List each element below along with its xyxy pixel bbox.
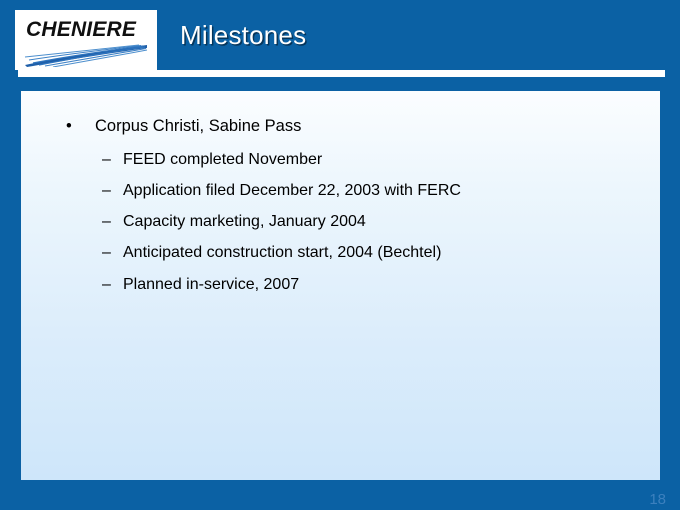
list-item: • Corpus Christi, Sabine Pass xyxy=(21,117,660,137)
list-item: – Planned in-service, 2007 xyxy=(21,275,660,294)
slide-title: Milestones xyxy=(180,20,306,51)
bullet-marker: • xyxy=(66,117,72,137)
list-item-label: Capacity marketing, January 2004 xyxy=(123,213,366,230)
list-item-label: FEED completed November xyxy=(123,151,322,168)
header-separator-left-cap xyxy=(0,70,18,77)
bullet-list: • Corpus Christi, Sabine Pass – FEED com… xyxy=(21,117,660,306)
list-item-label: Anticipated construction start, 2004 (Be… xyxy=(123,244,441,261)
slide-header: CHENIERE Milestones xyxy=(0,0,680,77)
list-item: – Capacity marketing, January 2004 xyxy=(21,212,660,231)
dash-marker: – xyxy=(102,275,111,294)
list-item: – FEED completed November xyxy=(21,150,660,169)
presentation-slide: CHENIERE Milestones • Corpus Christi, Sa… xyxy=(0,0,680,510)
wave-swoosh-icon xyxy=(23,43,149,67)
slide-content-panel: • Corpus Christi, Sabine Pass – FEED com… xyxy=(18,88,663,483)
list-item: – Application filed December 22, 2003 wi… xyxy=(21,181,660,200)
list-item: – Anticipated construction start, 2004 (… xyxy=(21,243,660,262)
list-item-label: Corpus Christi, Sabine Pass xyxy=(95,117,301,135)
company-logo: CHENIERE xyxy=(15,10,157,70)
list-item-label: Application filed December 22, 2003 with… xyxy=(123,182,461,199)
slide-footer: 18 xyxy=(0,483,680,510)
list-item-label: Planned in-service, 2007 xyxy=(123,276,299,293)
dash-marker: – xyxy=(102,243,111,262)
logo-wordmark-text: CHENIERE xyxy=(26,19,148,40)
dash-marker: – xyxy=(102,212,111,231)
header-separator-rule xyxy=(0,70,665,77)
page-number: 18 xyxy=(649,492,666,507)
dash-marker: – xyxy=(102,150,111,169)
dash-marker: – xyxy=(102,181,111,200)
